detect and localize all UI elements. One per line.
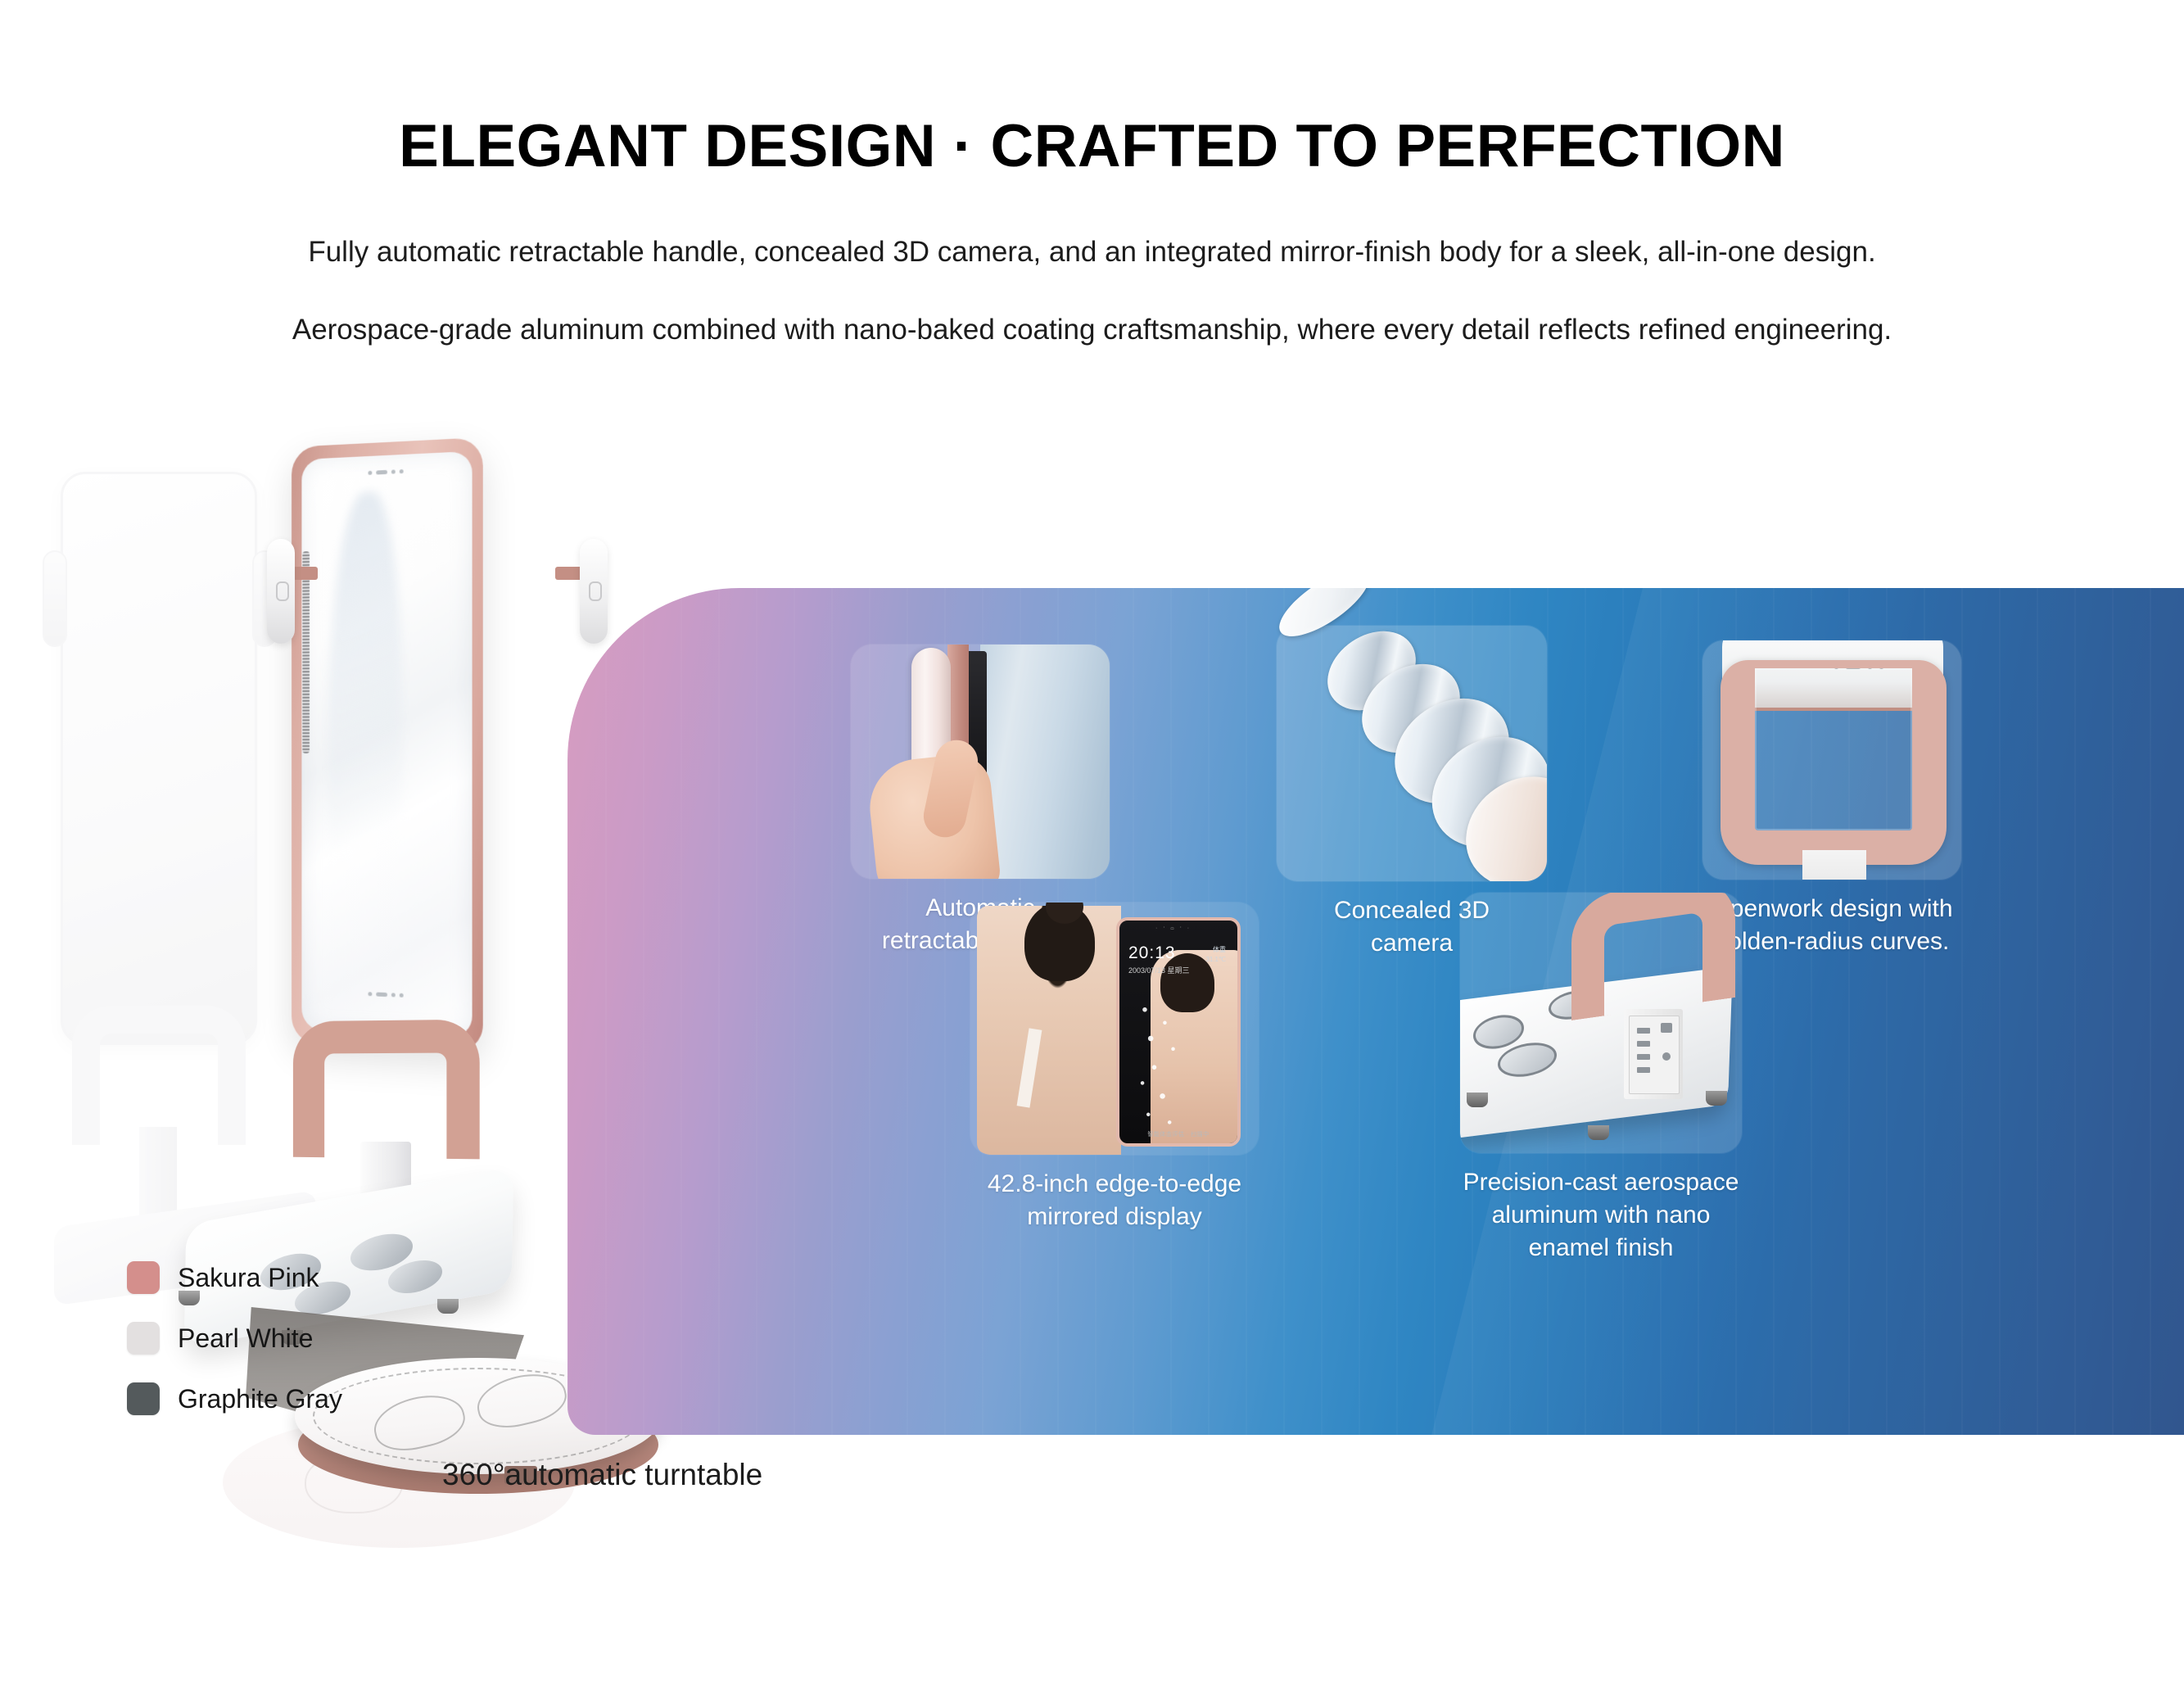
feature-thumbnail-aerospace-base [1460, 893, 1742, 1153]
side-vent-grille [302, 551, 310, 753]
feature-thumbnail-mirrored-display: · ᛫ ▭ ᛫ · 20:13 2003/07/13 星期三 体重 31.1℃ … [970, 903, 1259, 1155]
openwork-arch-frame [1721, 660, 1947, 865]
feature-highlights-panel: Automatic retractable handle Concealed 3… [567, 588, 2184, 1435]
feature-caption: Precision-cast aerospace aluminum with n… [1460, 1166, 1742, 1265]
openwork-stem [1802, 850, 1866, 880]
model-illustration [977, 906, 1121, 1155]
secondary-mirror-screen [61, 472, 257, 1045]
feature-thumbnail-concealed-3d-camera [1277, 626, 1547, 881]
adjustable-foot [437, 1299, 459, 1314]
subtitle-block: Fully automatic retractable handle, conc… [0, 230, 2184, 351]
legend-label: Pearl White [178, 1323, 313, 1354]
intro-paragraph-2: Aerospace-grade aluminum combined with n… [0, 308, 2184, 351]
feature-thumbnail-openwork-design [1702, 640, 1961, 880]
color-swatch-sakura-pink [127, 1261, 160, 1294]
feature-thumbnail-retractable-handle [851, 645, 1110, 879]
secondary-openwork-arch [72, 1006, 246, 1145]
secondary-handle-left [43, 550, 67, 647]
display-footer-text: 智能体态评估 · 扫描中 [1119, 1130, 1237, 1138]
feature-caption: 42.8-inch edge-to-edge mirrored display [970, 1168, 1259, 1233]
model-strap [1017, 1028, 1042, 1107]
adjustable-foot [1467, 1093, 1488, 1107]
display-metrics: 体重 31.1℃ [1205, 945, 1226, 965]
mirror-frame [292, 437, 483, 1053]
page-title: ELEGANT DESIGN · CRAFTED TO PERFECTION [0, 115, 2184, 179]
display-date: 2003/07/13 星期三 [1128, 965, 1190, 975]
legend-item-pearl-white[interactable]: Pearl White [127, 1322, 342, 1355]
feature-mirrored-display[interactable]: · ᛫ ▭ ᛫ · 20:13 2003/07/13 星期三 体重 31.1℃ … [970, 903, 1259, 1233]
mirror-screen [301, 451, 472, 1038]
retractable-handle-left [267, 539, 295, 644]
color-legend: Sakura Pink Pearl White Graphite Gray [127, 1261, 342, 1415]
adjustable-foot [1706, 1091, 1727, 1106]
legend-item-graphite-gray[interactable]: Graphite Gray [127, 1382, 342, 1415]
page-header: ELEGANT DESIGN · CRAFTED TO PERFECTION F… [0, 0, 2184, 351]
feature-aerospace-aluminum-base[interactable]: Precision-cast aerospace aluminum with n… [1460, 893, 1742, 1265]
intro-paragraph-1: Fully automatic retractable handle, conc… [0, 230, 2184, 274]
io-port-panel [1629, 1016, 1680, 1094]
legend-label: Graphite Gray [178, 1384, 342, 1414]
mirror-display-screen: · ᛫ ▭ ᛫ · 20:13 2003/07/13 星期三 体重 31.1℃ … [1116, 917, 1241, 1147]
scan-particles [1134, 999, 1193, 1130]
retractable-handle-right [580, 539, 608, 644]
secondary-mirror-unit [49, 472, 270, 1242]
handle-link-right [555, 567, 583, 580]
turntable-label: 360°automatic turntable [442, 1458, 762, 1492]
marketing-page: ELEGANT DESIGN · CRAFTED TO PERFECTION F… [0, 0, 2184, 1683]
legend-item-sakura-pink[interactable]: Sakura Pink [127, 1261, 342, 1294]
smart-mirror-unit [288, 442, 558, 1261]
mirror-edge-illustration [980, 645, 1110, 879]
adjustable-foot [1588, 1125, 1609, 1140]
display-time: 20:13 [1128, 943, 1176, 963]
status-bar: · ᛫ ▭ ᛫ · [1155, 925, 1191, 931]
openwork-arch [293, 1020, 480, 1160]
color-swatch-pearl-white [127, 1322, 160, 1355]
mirror-reflection-sheen [328, 491, 402, 1000]
color-swatch-graphite-gray [127, 1382, 160, 1415]
legend-label: Sakura Pink [178, 1263, 319, 1293]
